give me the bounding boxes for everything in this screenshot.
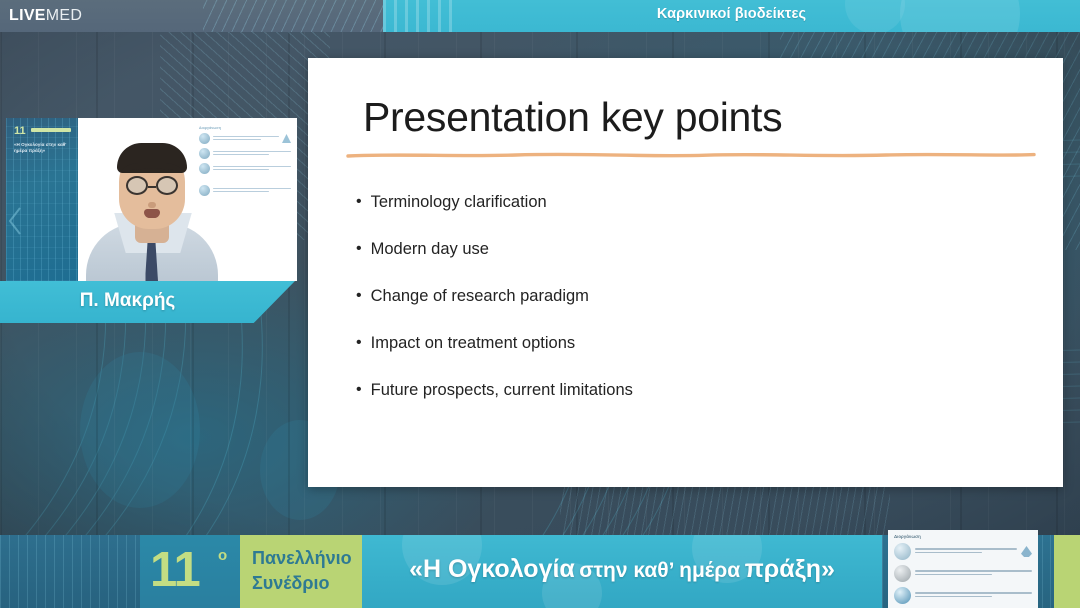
bottom-left-stripes: [0, 535, 140, 608]
speaker-name: Π. Μακρής: [0, 290, 255, 312]
top-banner: LIVEMED Καρκινικοί βιοδείκτες: [0, 0, 1080, 32]
chevron-left-icon[interactable]: [6, 206, 24, 236]
bullet-text: Change of research paradigm: [371, 286, 589, 306]
organizer-name: [915, 592, 1032, 599]
organizers-card[interactable]: Διοργάνωση: [888, 530, 1038, 608]
theme-title-open: «Η Ογκολογία: [409, 555, 575, 583]
bullet-text: Future prospects, current limitations: [371, 380, 633, 400]
organizer-item: [894, 587, 1032, 604]
organizer-logo-icon: [894, 543, 911, 560]
slide-bullet-item: • Impact on treatment options: [356, 333, 1016, 353]
organizer-name: [915, 570, 1032, 577]
slide-bullet-item: • Future prospects, current limitations: [356, 380, 1016, 400]
speaker-mouth: [144, 209, 160, 218]
speaker-glasses-right-lens: [156, 176, 178, 195]
bullet-marker-icon: •: [356, 239, 362, 259]
session-title: Καρκινικοί βιοδείκτες: [383, 6, 1080, 22]
conference-theme-block: «Η Ογκολογία στην καθ’ ημέρα πράξη»: [362, 535, 882, 608]
theme-title-mid: στην καθ’ ημέρα: [579, 559, 740, 582]
conference-name-line2: Συνέδριο: [252, 573, 329, 594]
organizer-item: [894, 543, 1032, 560]
bullet-marker-icon: •: [356, 333, 362, 353]
brand-bar: LIVEMED: [0, 0, 383, 32]
speaker-video-frame[interactable]: 11 «Η Ογκολογία στην καθ' ημέρα πράξη» Δ…: [6, 118, 297, 281]
organizer-logo-icon: [894, 587, 911, 604]
slide-bullet-item: • Change of research paradigm: [356, 286, 1016, 306]
speaker-nose: [148, 202, 156, 208]
livemed-logo[interactable]: LIVEMED: [9, 7, 82, 25]
speaker-image: [6, 118, 297, 281]
conference-number: 11: [150, 544, 200, 596]
slide-bullet-list: • Terminology clarification • Modern day…: [356, 192, 1016, 427]
speaker-video-panel[interactable]: 11 «Η Ογκολογία στην καθ' ημέρα πράξη» Δ…: [0, 36, 310, 322]
bullet-marker-icon: •: [356, 192, 362, 212]
bottom-right-green-accent: [1054, 535, 1080, 608]
slide-title: Presentation key points: [363, 94, 782, 141]
theme-title-end: πράξη»: [745, 555, 835, 583]
brand-bar-rays: [203, 0, 383, 32]
slide-bullet-item: • Modern day use: [356, 239, 1016, 259]
bottom-banner-left-pattern: [0, 535, 140, 608]
conference-ordinal: ο: [218, 547, 227, 564]
bullet-marker-icon: •: [356, 286, 362, 306]
conference-theme-title: «Η Ογκολογία στην καθ’ ημέρα πράξη»: [362, 555, 882, 584]
organizer-item: [894, 565, 1032, 582]
bullet-text: Impact on treatment options: [371, 333, 576, 353]
conference-name-line1: Πανελλήνιο: [252, 548, 352, 569]
bullet-text: Terminology clarification: [371, 192, 547, 212]
speaker-name-banner: Π. Μακρής: [0, 281, 295, 323]
brand-bold-text: LIVE: [9, 7, 46, 24]
organizer-name: [915, 548, 1017, 555]
slide-bullet-item: • Terminology clarification: [356, 192, 1016, 212]
bullet-text: Modern day use: [371, 239, 489, 259]
organizer-logo-icon: [894, 565, 911, 582]
session-title-bar: Καρκινικοί βιοδείκτες: [383, 0, 1080, 32]
bullet-marker-icon: •: [356, 380, 362, 400]
slide-title-underline: [346, 150, 1036, 160]
conference-name-block: Πανελλήνιο Συνέδριο: [240, 535, 362, 608]
conference-number-block: 11 ο: [140, 535, 240, 608]
organizers-heading: Διοργάνωση: [894, 534, 1032, 539]
organizer-badge-icon: [1021, 546, 1032, 557]
speaker-glasses-bridge: [148, 186, 156, 188]
brand-light-text: MED: [46, 7, 82, 24]
presentation-slide[interactable]: Presentation key points • Terminology cl…: [308, 58, 1063, 487]
stream-player-stage: LIVEMED Καρκινικοί βιοδείκτες 11 «Η Ογκο…: [0, 0, 1080, 608]
speaker-glasses-left-lens: [126, 176, 148, 195]
